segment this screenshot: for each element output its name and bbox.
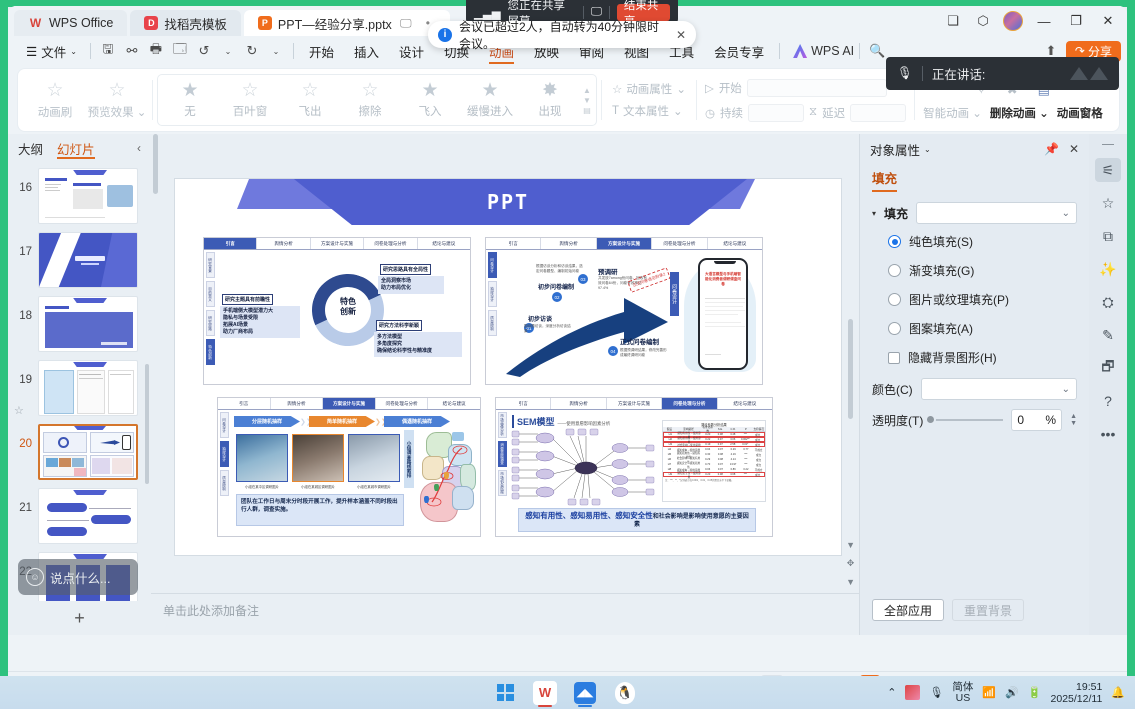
side-tab: 抽样设计 — [220, 441, 229, 467]
flow-step: 偶遇随机抽样 — [384, 416, 450, 427]
thumb-number: 17 — [12, 232, 32, 258]
side-tab: 研究背景 — [206, 252, 215, 278]
option-solid-fill[interactable]: 纯色填充(S) — [888, 233, 1077, 250]
tab-display-icon[interactable]: 🖵 — [398, 15, 414, 31]
avatar[interactable] — [999, 8, 1027, 34]
tab-design[interactable]: 设计 — [389, 37, 434, 65]
stage-right-scrollbar[interactable] — [848, 179, 853, 555]
delay-hourglass-icon: ⧖ — [809, 106, 817, 119]
preview-effect-icon: ☆ — [108, 81, 125, 100]
effect-label: 无 — [184, 103, 196, 119]
desktop-background-left — [0, 0, 8, 709]
slide-thumbnail[interactable] — [38, 232, 138, 288]
star-icon: ☆ — [241, 81, 258, 100]
start-select[interactable] — [747, 79, 887, 97]
effect-fly-in[interactable]: ★ 飞入 — [400, 76, 460, 124]
effect-label: 出现 — [539, 103, 562, 119]
list-item[interactable]: 19 ☆ — [8, 356, 151, 420]
desktop-background-right — [1127, 0, 1135, 709]
option-hide-background-graphics[interactable]: 隐藏背景图形(H) — [888, 349, 1077, 366]
beautify-icon[interactable]: ✨ — [1095, 257, 1121, 281]
add-slide-button[interactable]: + — [8, 601, 151, 635]
phone-title: 大语言模型与手机端智能化消费者调研调查问卷 — [704, 272, 742, 287]
quad-tab: 问卷处理与分析 — [376, 398, 429, 409]
quad-tab: 舆情分析 — [257, 238, 310, 249]
wps-office-icon[interactable]: W — [532, 680, 558, 706]
window-right-controls: ❏ ⬡ — ❐ ✕ — [939, 6, 1127, 36]
side-tab: 消费意愿调查 — [498, 441, 507, 467]
save-icon[interactable]: 🖫 — [96, 39, 120, 63]
animation-property-label: 动画属性 — [626, 81, 672, 97]
summary-text: 团队在工作日与周末分时段开展工作，提升样本涵盖不同时段出行人群，调查实施。 — [237, 495, 403, 517]
print-icon[interactable]: 🖶 — [144, 39, 168, 63]
slide-editing-stage: PPT 引言 舆情分析 方案设计与实施 问卷处理与分析 结论与建议 — [151, 134, 859, 635]
slide-reset-icon[interactable]: ✥ — [847, 558, 855, 569]
quad-tab: 结论与建议 — [418, 238, 470, 249]
clock[interactable]: 19:51 2025/12/11 — [1051, 681, 1103, 705]
tab-start[interactable]: 开始 — [299, 37, 344, 65]
summary-box: 团队在工作日与周末分时段开展工作，提升样本涵盖不同时段出行人群，调查实施。 — [236, 494, 404, 526]
pen-icon[interactable]: ✎ — [1095, 323, 1121, 347]
side-tab: 研究思路 — [206, 310, 215, 336]
slide-thumbnail[interactable] — [38, 488, 138, 544]
side-tab: 市场画像分析 — [498, 412, 507, 438]
label-box: 研究思路具有全局性 — [380, 264, 431, 275]
tab-member-exclusive[interactable]: 会员专享 — [704, 37, 774, 65]
file-menu-button[interactable]: ☰ 文件 ⌄ — [18, 39, 85, 63]
photo — [348, 434, 400, 482]
conclusion-highlight: 感知有用性、感知易用性、感知安全性 — [525, 511, 653, 520]
star-icon: ✸ — [542, 81, 558, 100]
globe-icon[interactable]: ⬡ — [969, 8, 997, 34]
tab-label: PPT—经验分享.pptx — [278, 14, 392, 33]
label-box: 研究方法科学新颖 — [376, 320, 422, 331]
info-icon: i — [438, 28, 452, 42]
more-icon[interactable]: ••• — [1095, 422, 1121, 446]
step-desc: 围绕题访谈，深度分析访谈结果 — [524, 324, 572, 334]
step-badge: 03 — [578, 274, 588, 284]
side-tab: 抽样设计 — [488, 281, 497, 307]
wps-ai-button[interactable]: WPS AI — [793, 44, 854, 58]
print-preview-icon[interactable]: 🗔 — [168, 39, 192, 63]
step-title: 正式问卷编制 — [620, 336, 659, 346]
object-properties-icon[interactable]: ⚟ — [1095, 158, 1121, 182]
step-desc: 根据访谈分析和访谈结果，选定问卷题型、编制初始问卷 — [536, 264, 584, 274]
effect-appear[interactable]: ✸ 出现 — [520, 76, 580, 124]
slide-thumbnail[interactable] — [38, 296, 138, 352]
delete-animation-label[interactable]: 删除动画 ⌄ — [990, 105, 1049, 121]
tray-expand-icon[interactable]: ⌃ — [887, 686, 896, 699]
tab-slides[interactable]: 幻灯片 — [57, 135, 95, 161]
bullet-box: 多方法模型 多角度探究 确保结论科学性与精准度 — [374, 332, 462, 357]
slide-thumbnail-current[interactable] — [38, 424, 138, 480]
slide-canvas[interactable]: PPT 引言 舆情分析 方案设计与实施 问卷处理与分析 结论与建议 — [175, 179, 841, 555]
gallery-scroll-controls[interactable]: ▲ ▼ ▤ — [580, 76, 594, 124]
slide-title: PPT — [175, 190, 841, 214]
quad-tabs: 引言 舆情分析 方案设计与实施 问卷处理与分析 结论与建议 — [218, 398, 480, 410]
quad-tab: 方案设计与实施 — [311, 238, 364, 249]
microphone-icon[interactable]: 🎙 — [897, 66, 913, 81]
chevron-down-icon: ⌄ — [676, 82, 686, 96]
chevron-down-icon: ⌄ — [1062, 384, 1070, 395]
quad-tab: 方案设计与实施 — [323, 398, 376, 409]
screen: W WPS Office D 找稻壳模板 P PPT—经验分享.pptx 🖵 •… — [0, 0, 1135, 709]
animation-property-button[interactable]: ☆ 动画属性 ⌄ — [612, 81, 686, 97]
slide-thumbnail-panel: 大纲 幻灯片 ‹ 16 — [8, 134, 151, 635]
route-label: 小组调查路线索排 — [404, 430, 414, 488]
fill-group-label: 填充 — [884, 205, 908, 222]
quad-tabs: 引言 舆情分析 方案设计与实施 问卷处理与分析 结论与建议 — [204, 238, 470, 250]
list-item[interactable]: 18 — [8, 292, 151, 356]
windows-taskbar: W ◢◣ 🐧 ⌃ 🎙 简体 US 📶 🔊 🔋 19:51 — [0, 676, 1135, 709]
right-tool-rail: ⚟ ☆ ⧉ ✨ ⛭ ✎ 🗗 ? ••• — [1089, 134, 1127, 635]
start-icon: ▷ — [705, 81, 714, 95]
microphone-icon[interactable]: 🎙 — [929, 686, 943, 699]
panel-tab-fill[interactable]: 填充 — [872, 168, 897, 192]
transparency-slider[interactable] — [931, 419, 1003, 421]
step-title: 预调研 — [598, 266, 618, 276]
meeting-notification-toast: i 会议已超过2人，自动转为40分钟限时会议。 ✕ — [428, 21, 696, 48]
option-label: 纯色填充(S) — [909, 233, 973, 250]
transparency-label: 透明度(T) — [872, 412, 923, 429]
duration-clock-icon: ◷ — [705, 106, 715, 120]
chevron-down-icon: ⌄ — [673, 104, 683, 118]
panel-title: 对象属性 — [870, 140, 920, 159]
tab-presentation-file[interactable]: P PPT—经验分享.pptx 🖵 • — [244, 10, 450, 36]
delay-label: 延迟 — [822, 105, 845, 121]
wps-office-window: W WPS Office D 找稻壳模板 P PPT—经验分享.pptx 🖵 •… — [8, 6, 1127, 671]
side-tab: 特色创新 — [206, 339, 215, 365]
effect-blinds[interactable]: ☆ 百叶窗 — [220, 76, 280, 124]
slide-thumbnail[interactable] — [38, 168, 138, 224]
customize-qat-icon[interactable]: ⌄ — [264, 39, 288, 63]
thumbnail-scrollbar[interactable] — [145, 364, 149, 484]
meeting-icon[interactable]: ◢◣ — [572, 680, 598, 706]
animation-effect-gallery[interactable]: ★ 无 ☆ 百叶窗 ☆ 飞出 ☆ 擦除 — [157, 74, 597, 126]
step-dot — [514, 340, 521, 347]
quad-tab: 引言 — [218, 398, 271, 409]
star-icon: ★ — [181, 81, 198, 100]
help-icon[interactable]: ? — [1095, 389, 1121, 413]
share-cloud-icon[interactable]: ⚯ — [120, 39, 144, 63]
thumb-number: 19 — [12, 360, 32, 386]
quad-tab: 结论与建议 — [708, 238, 762, 249]
quad-side-tabs: 研究背景 目的意义 研究思路 特色创新 — [206, 252, 215, 365]
volume-icon[interactable]: 🔊 — [1005, 686, 1019, 699]
text-property-icon: T — [612, 105, 619, 117]
step-desc: 根据预调研结果，修改完善形成最终调研问卷 — [620, 348, 668, 358]
wps-ai-label: WPS AI — [811, 44, 854, 58]
clock-date: 2025/12/11 — [1051, 693, 1103, 705]
list-item[interactable]: 17 — [8, 228, 151, 292]
scroll-up-icon[interactable]: ▲ — [583, 86, 591, 95]
quad-tab: 引言 — [204, 238, 257, 249]
side-tab: 问卷设计 — [488, 252, 497, 278]
delay-input[interactable] — [850, 104, 906, 122]
quadrant-sampling[interactable]: 引言 舆情分析 方案设计与实施 问卷处理与分析 结论与建议 问卷设计 抽样设计 … — [217, 397, 481, 537]
wifi-icon[interactable]: 📶 — [982, 686, 996, 699]
quad-tab: 引言 — [486, 238, 541, 249]
list-item[interactable]: 16 — [8, 164, 151, 228]
region-map — [418, 430, 478, 526]
phone-mockup: 大语言模型与手机端智能化消费者调研调查问卷 — [698, 258, 748, 370]
text-property-label: 文本属性 — [623, 103, 669, 119]
bullet-box: 手机端侧大模型潜力大 隐私与场景受限 拓展AI场景 助力厂商布局 — [220, 306, 300, 338]
audio-wave-icon — [1070, 67, 1108, 80]
star-icon: ★ — [421, 81, 438, 100]
step-title: 初步问卷编制 — [538, 282, 574, 291]
animation-property-icon: ☆ — [612, 82, 622, 96]
chevron-down-icon: ⌄ — [70, 47, 77, 56]
tab-label: 找稻壳模板 — [164, 14, 227, 33]
clock-time: 19:51 — [1051, 681, 1103, 693]
tab-wps-office-home[interactable]: W WPS Office — [14, 10, 127, 36]
side-tab: 市场机会挖掘 — [498, 470, 507, 496]
system-tray: ⌃ 🎙 简体 US 📶 🔊 🔋 19:51 2025/12/11 🔔 — [887, 681, 1135, 705]
effect-label: 飞出 — [299, 103, 322, 119]
photo-caption: 小组在某中区调研图片 — [236, 484, 288, 489]
color-label: 颜色(C) — [872, 381, 913, 398]
speaking-label: 正在讲话: — [932, 64, 985, 83]
results-table: 路径系数分析结果 假设影响路径标准化系数S.E.C.R.P支持情况 H1感知有用… — [662, 420, 766, 502]
side-tab: 质量控制 — [488, 310, 497, 336]
quad-tab: 舆情分析 — [551, 398, 606, 409]
duration-label: 持续 — [720, 105, 743, 121]
photo-caption: 小组在某城区调研图片 — [292, 484, 344, 489]
effect-label: 飞入 — [419, 103, 442, 119]
smart-animation-label[interactable]: 智能动画 ⌄ — [923, 105, 982, 121]
reset-background-button[interactable]: 重置背景 — [952, 599, 1024, 621]
close-icon[interactable]: ✕ — [676, 28, 686, 42]
comment-input-bubble[interactable]: ☺ 说点什么... — [18, 559, 138, 595]
effect-wipe[interactable]: ☆ 擦除 — [340, 76, 400, 124]
sem-diagram — [508, 426, 658, 508]
quad-side-tabs: 问卷设计 抽样设计 质量控制 — [488, 252, 497, 336]
battery-icon[interactable]: 🔋 — [1028, 686, 1042, 699]
chevron-left-icon[interactable]: ‹ — [137, 141, 141, 155]
quadrant-questionnaire-design[interactable]: 引言 舆情分析 方案设计与实施 问卷处理与分析 结论与建议 问卷设计 抽样设计 … — [485, 237, 763, 385]
effect-none[interactable]: ★ 无 — [160, 76, 220, 124]
list-item[interactable]: 21 — [8, 484, 151, 548]
transparency-input[interactable]: 0 % — [1011, 409, 1062, 431]
side-tab: 问卷设计 — [220, 412, 229, 438]
option-gradient-fill[interactable]: 渐变填充(G) — [888, 262, 1077, 279]
option-label: 图片或纹理填充(P) — [909, 291, 1009, 308]
quad-tab: 问卷处理与分析 — [364, 238, 417, 249]
effect-slow-enter[interactable]: ★ 缓慢进入 — [460, 76, 520, 124]
object-properties-panel: 对象属性 ⌄ 📌 ✕ 填充 ▾ 填充 — [859, 134, 1089, 635]
animation-icon[interactable]: ☆ — [1095, 191, 1121, 215]
duration-input[interactable] — [748, 104, 804, 122]
chevron-down-icon[interactable]: ⌄ — [924, 145, 931, 154]
cycle-center-text: 特色 创新 — [312, 297, 384, 317]
step-dot — [592, 310, 600, 318]
emoji-icon[interactable]: ☺ — [26, 568, 44, 586]
quad-tab: 方案设计与实施 — [597, 238, 652, 249]
tab-insert[interactable]: 插入 — [344, 37, 389, 65]
apply-all-button[interactable]: 全部应用 — [872, 599, 944, 621]
penguin-icon[interactable]: 🐧 — [612, 680, 638, 706]
redo-icon[interactable]: ↻ — [240, 39, 264, 63]
flow-step: 分层随机抽样 — [234, 416, 300, 427]
undo-icon[interactable]: ↺ — [192, 39, 216, 63]
option-label: 渐变填充(G) — [909, 262, 974, 279]
main-area: 大纲 幻灯片 ‹ 16 — [8, 134, 1127, 635]
start-label: 开始 — [719, 80, 742, 96]
next-slide-icon[interactable]: ▼ — [846, 577, 855, 587]
quad-tab: 舆情分析 — [541, 238, 596, 249]
side-tab: 目的意义 — [206, 281, 215, 307]
option-pattern-fill[interactable]: 图案填充(A) — [888, 320, 1077, 337]
animation-brush-button[interactable]: ☆ 动画刷 — [24, 72, 86, 128]
chevron-down-icon: ⌄ — [1062, 208, 1070, 219]
resource-search-icon[interactable]: 🗗 — [1095, 356, 1121, 380]
close-button[interactable]: ✕ — [1093, 8, 1123, 34]
minimize-button[interactable]: — — [1029, 8, 1059, 34]
thumb-number: 16 — [12, 168, 32, 194]
option-picture-texture-fill[interactable]: 图片或纹理填充(P) — [888, 291, 1077, 308]
quad-tabs: 引言 舆情分析 方案设计与实施 问卷处理与分析 结论与建议 — [496, 398, 772, 410]
checkbox-icon[interactable] — [888, 352, 900, 364]
pin-icon[interactable]: 📌 — [1044, 142, 1059, 156]
fill-preset-select[interactable]: ⌄ — [916, 202, 1077, 224]
star-icon: ☆ — [14, 404, 24, 417]
file-menu-label: 文件 — [41, 42, 66, 61]
transparency-stepper[interactable]: ▲▼ — [1070, 413, 1077, 427]
label-box: 研究主题具有前瞻性 — [222, 294, 273, 305]
preview-effect-button[interactable]: ☆ 预览效果 ⌄ — [86, 72, 148, 128]
selection-pane-icon[interactable]: ⧉ — [1095, 224, 1121, 248]
quadrant-analysis[interactable]: 引言 舆情分析 方案设计与实施 问卷处理与分析 结论与建议 市场画像分析 消费意… — [495, 397, 773, 537]
conclusion-box: 感知有用性、感知易用性、感知安全性和社会影响是影响使用意愿的主要因素 — [518, 508, 756, 532]
chevron-down-icon[interactable]: ▾ — [872, 209, 876, 218]
radio-icon[interactable] — [888, 264, 901, 277]
stage-left-scrollbar[interactable] — [153, 134, 158, 593]
close-icon[interactable]: ✕ — [1069, 142, 1079, 156]
effect-label: 擦除 — [359, 103, 382, 119]
multi-window-icon[interactable]: ❏ — [939, 8, 967, 34]
wps-ai-icon — [793, 44, 807, 58]
notes-pane[interactable]: 单击此处添加备注 — [151, 593, 859, 635]
ime-indicator[interactable]: 简体 US — [952, 682, 973, 704]
undo-dropdown-icon[interactable]: ⌄ — [216, 39, 240, 63]
animation-pane-label[interactable]: 动画窗格 — [1057, 105, 1103, 121]
effect-label: 缓慢进入 — [467, 103, 513, 119]
animation-brush-icon: ☆ — [46, 81, 63, 100]
radio-icon[interactable] — [888, 293, 901, 306]
wps-logo-icon: W — [28, 16, 43, 31]
bullet-box: 全局洞察市场 助力布局优化 — [378, 276, 444, 294]
option-label: 隐藏背景图形(H) — [908, 349, 997, 366]
color-select[interactable]: ⌄ — [921, 378, 1077, 400]
quad-tab: 结论与建议 — [428, 398, 480, 409]
notification-icon[interactable]: 🔔 — [1111, 686, 1125, 699]
preview-effect-label: 预览效果 — [88, 107, 134, 119]
stage-nav-buttons[interactable]: ▼ ✥ ▼ — [846, 540, 855, 587]
speaking-indicator-bar[interactable]: 🎙 正在讲话: — [886, 57, 1119, 90]
tab-outline[interactable]: 大纲 — [18, 135, 43, 161]
thumb-number: 20 — [12, 424, 32, 450]
quadrant-intro[interactable]: 引言 舆情分析 方案设计与实施 问卷处理与分析 结论与建议 研究背景 目的意义 … — [203, 237, 471, 385]
thumb-number: 18 — [12, 296, 32, 322]
quad-tabs: 引言 舆情分析 方案设计与实施 问卷处理与分析 结论与建议 — [486, 238, 762, 250]
quad-tab: 结论与建议 — [718, 398, 772, 409]
tray-app-icon[interactable] — [905, 685, 920, 700]
quad-tab: 问卷处理与分析 — [662, 398, 717, 409]
hamburger-icon: ☰ — [26, 44, 37, 59]
phone-label: 问卷设计 — [670, 272, 679, 316]
thumb-number: 21 — [12, 488, 32, 514]
comment-placeholder: 说点什么... — [50, 568, 110, 587]
tab-label: WPS Office — [49, 16, 113, 30]
chevron-down-icon: ⌄ — [137, 107, 147, 119]
step-badge: 04 — [608, 346, 618, 356]
quad-tab: 问卷处理与分析 — [652, 238, 707, 249]
gallery-expand-icon[interactable]: ▤ — [583, 106, 591, 115]
step-title: 初步访谈 — [528, 314, 552, 323]
ppt-file-icon: P — [258, 16, 272, 30]
template-icon[interactable]: ⛭ — [1095, 290, 1121, 314]
rail-collapse-icon[interactable] — [1102, 144, 1114, 145]
option-label: 图案填充(A) — [909, 320, 973, 337]
quad-tab: 引言 — [496, 398, 551, 409]
radio-icon[interactable] — [888, 235, 901, 248]
photo-caption: 小组在某城市调研图片 — [348, 484, 400, 489]
step-badge: 02 — [552, 292, 562, 302]
quad-side-tabs: 市场画像分析 消费意愿调查 市场机会挖掘 — [498, 412, 507, 496]
slide-thumbnail[interactable] — [38, 360, 138, 416]
photo — [292, 434, 344, 482]
photo — [236, 434, 288, 482]
quad-tab: 舆情分析 — [271, 398, 324, 409]
effect-fly-out[interactable]: ☆ 飞出 — [280, 76, 340, 124]
thumbnail-list[interactable]: 16 1 — [8, 162, 151, 601]
star-icon: ★ — [481, 81, 498, 100]
share-arrow-icon: ↷ — [1075, 44, 1085, 58]
star-icon: ☆ — [361, 81, 378, 100]
list-item[interactable]: 20 — [8, 420, 151, 484]
quad-side-tabs: 问卷设计 抽样设计 质量控制 — [220, 412, 229, 496]
quad-tab: 方案设计与实施 — [607, 398, 662, 409]
flow-step: 简单随机抽样 — [309, 416, 375, 427]
effect-label: 百叶窗 — [233, 103, 268, 119]
previous-slide-icon[interactable]: ▼ — [846, 540, 855, 550]
side-tab: 质量控制 — [220, 470, 229, 496]
radio-icon[interactable] — [888, 322, 901, 335]
maximize-button[interactable]: ❐ — [1061, 8, 1091, 34]
toast-message: 会议已超过2人，自动转为40分钟限时会议。 — [459, 18, 669, 52]
docer-icon: D — [144, 16, 158, 30]
text-property-button[interactable]: T 文本属性 ⌄ — [612, 103, 686, 119]
star-icon: ☆ — [301, 81, 318, 100]
scroll-down-icon[interactable]: ▼ — [583, 96, 591, 105]
tab-docer-template[interactable]: D 找稻壳模板 — [130, 10, 241, 36]
animation-brush-label: 动画刷 — [38, 104, 73, 120]
windows-start-icon[interactable] — [492, 680, 518, 706]
